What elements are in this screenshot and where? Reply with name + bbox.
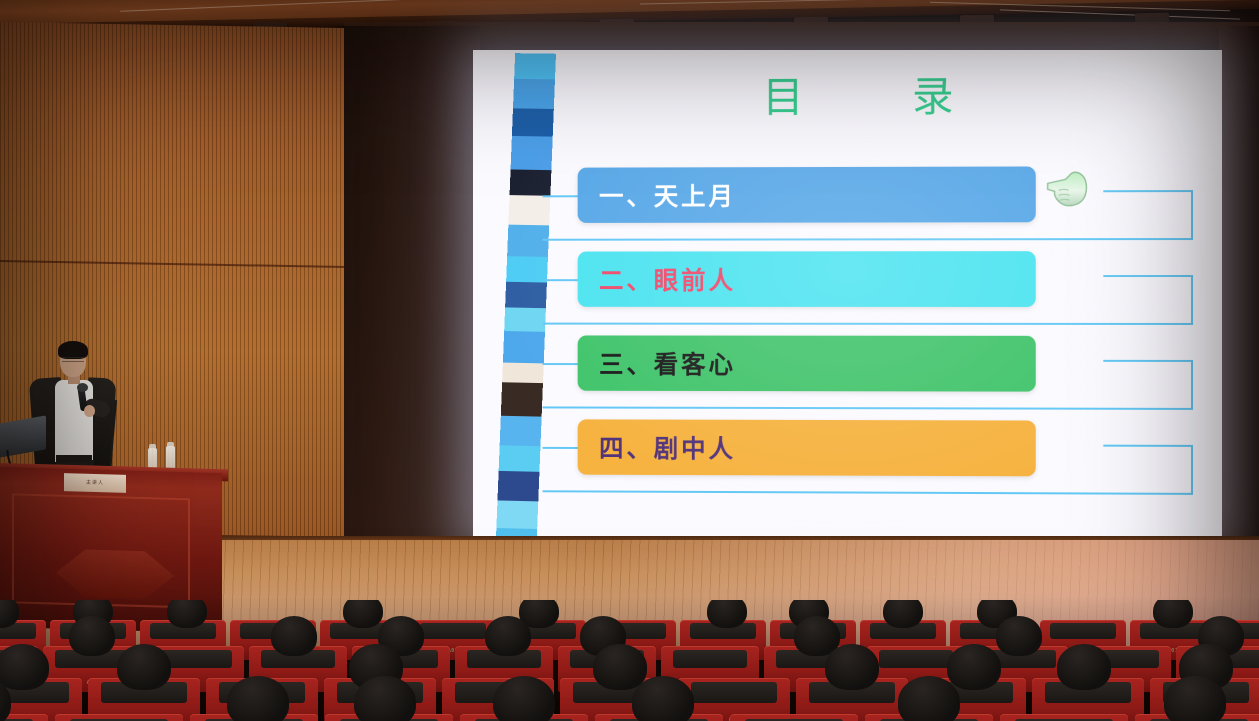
podium-nameplate: 主讲人 — [64, 473, 126, 493]
audience-member-head — [632, 676, 694, 721]
audience-seating: A01A01A01A01A01A01A01A01A01A01A01A01A01A… — [0, 600, 1259, 721]
podium-panel — [12, 493, 190, 608]
slide-surface: 目 录 一、天上月二、眼前人三、看客心四、剧中人 — [484, 50, 1222, 537]
connector-line — [543, 363, 578, 365]
ribbon-segment — [496, 500, 538, 529]
glasses-icon — [62, 357, 84, 362]
toc-item-2[interactable]: 二、眼前人 — [484, 241, 1222, 327]
seat-backrest — [691, 682, 776, 703]
seat-backrest — [420, 623, 485, 639]
connector-line — [1103, 445, 1193, 447]
auditorium-scene: 目 录 一、天上月二、眼前人三、看客心四、剧中人 — [0, 0, 1259, 721]
connector-line — [1103, 275, 1193, 277]
audience-member-head — [343, 600, 383, 628]
seat-backrest — [879, 650, 953, 668]
ribbon-segment — [514, 53, 556, 79]
slide-title: 目 录 — [710, 63, 1006, 125]
dark-side-wall-left — [344, 26, 480, 546]
auditorium-seat: A01 — [55, 714, 183, 721]
speaker-hand — [84, 405, 95, 417]
audience-member-head — [354, 676, 416, 721]
audience-member-head — [898, 676, 960, 721]
auditorium-seat: A01 — [1000, 714, 1128, 721]
connector-line — [543, 447, 578, 449]
audience-member-head — [707, 600, 747, 628]
toc-item-label: 四、剧中人 — [599, 429, 736, 465]
connector-line — [543, 323, 1193, 325]
audience-member-head — [883, 600, 923, 628]
audience-member-head — [825, 644, 879, 690]
audience-member-head — [69, 616, 115, 656]
toc-item-list: 一、天上月二、眼前人三、看客心四、剧中人 — [484, 50, 1222, 54]
audience-member-head — [593, 644, 647, 690]
audience-member-head — [271, 616, 317, 656]
audience-member-head — [996, 616, 1042, 656]
connector-line — [543, 195, 578, 197]
audience-member-head — [117, 644, 171, 690]
toc-item-bar[interactable]: 二、眼前人 — [578, 251, 1036, 307]
connector-line — [1191, 360, 1193, 408]
connector-line — [1191, 190, 1193, 238]
upper-wall-shadow — [344, 22, 1259, 52]
toc-item-bar[interactable]: 三、看客心 — [578, 335, 1036, 391]
toc-item-label: 一、天上月 — [599, 177, 736, 213]
connector-line — [1191, 445, 1193, 493]
seat-backrest — [673, 650, 747, 668]
pointing-hand-icon — [1044, 168, 1096, 212]
connector-line — [543, 279, 578, 281]
toc-item-1[interactable]: 一、天上月 — [484, 156, 1222, 243]
toc-item-bar[interactable]: 一、天上月 — [578, 166, 1036, 222]
connector-line — [543, 490, 1193, 495]
podium-diamond-inlay — [56, 549, 174, 600]
toc-item-label: 三、看客心 — [599, 345, 736, 381]
auditorium-seat: A01 — [730, 714, 858, 721]
connector-line — [1103, 360, 1193, 362]
ribbon-segment — [513, 79, 555, 109]
dark-side-wall-right — [1219, 26, 1259, 546]
toc-item-label: 二、眼前人 — [599, 261, 736, 297]
audience-member-head — [167, 600, 207, 628]
projection-screen: 目 录 一、天上月二、眼前人三、看客心四、剧中人 — [473, 50, 1222, 537]
audience-member-head — [485, 616, 531, 656]
connector-line — [1191, 275, 1193, 323]
seat-backrest — [1050, 623, 1115, 639]
ribbon-segment — [512, 108, 554, 136]
connector-line — [1103, 190, 1193, 192]
toc-item-bar[interactable]: 四、剧中人 — [578, 419, 1036, 476]
toc-item-4[interactable]: 四、剧中人 — [484, 409, 1222, 497]
audience-member-head — [493, 676, 555, 721]
audience-member-head — [227, 676, 289, 721]
audience-member-head — [947, 644, 1001, 690]
audience-member-head — [0, 644, 49, 690]
audience-member-head — [1153, 600, 1193, 628]
toc-item-3[interactable]: 三、看客心 — [484, 326, 1222, 412]
microphone-head — [77, 383, 88, 392]
audience-member-head — [1057, 644, 1111, 690]
audience-member-head — [1164, 676, 1226, 721]
